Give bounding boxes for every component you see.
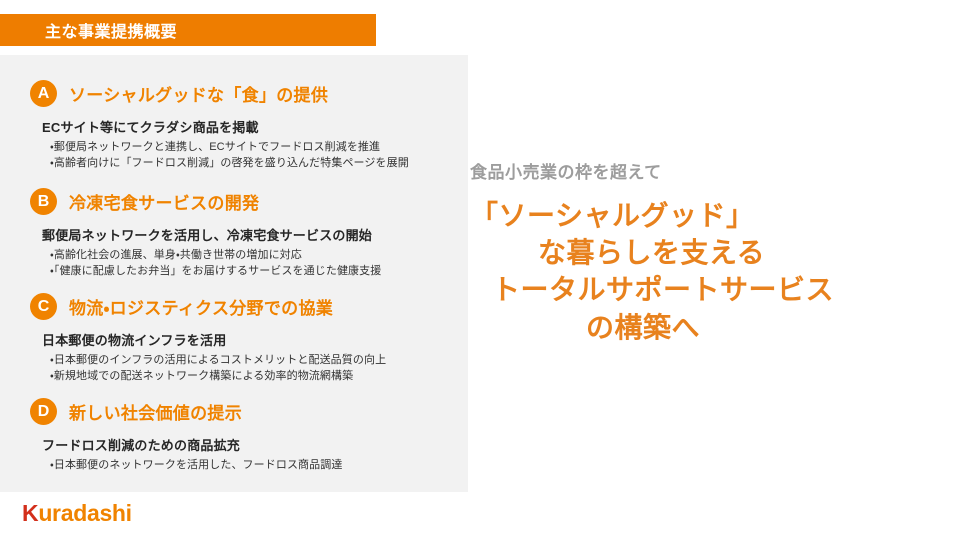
section-a-title: ソーシャルグッドな「食」の提供 — [69, 81, 328, 106]
section-b-title: 冷凍宅食サービスの開発 — [69, 189, 259, 214]
section-d-title: 新しい社会価値の提示 — [69, 399, 242, 424]
section-b: B 冷凍宅食サービスの開発 郵便局ネットワークを活用し、冷凍宅食サービスの開始 … — [0, 188, 468, 280]
section-c-header: C 物流・ロジスティクス分野での協業 — [30, 293, 468, 320]
page-title: 主な事業提携概要 — [45, 18, 177, 42]
list-item: ・郵便局ネットワークと連携し、ECサイトでフードロス削減を推進 — [50, 140, 468, 156]
section-a-bullets: ・郵便局ネットワークと連携し、ECサイトでフードロス削減を推進 ・高齢者向けに「… — [50, 140, 468, 172]
badge-d: D — [30, 398, 57, 425]
section-a-lead: ECサイト等にてクラダシ商品を掲載 — [42, 117, 468, 136]
list-item: ・日本郵便のネットワークを活用した、フードロス商品調達 — [50, 458, 468, 474]
list-item: ・新規地域での配送ネットワーク構築による効率的物流網構築 — [50, 369, 468, 385]
badge-c: C — [30, 293, 57, 320]
headline-line-4: の構築へ — [470, 309, 950, 346]
header-bar: 主な事業提携概要 — [0, 14, 376, 46]
logo-wordmark: uradashi — [38, 502, 131, 525]
section-d: D 新しい社会価値の提示 フードロス削減のための商品拡充 ・日本郵便のネットワー… — [0, 398, 468, 474]
headline-line-1: 「ソーシャルグッド」 — [470, 197, 950, 234]
headline-block: 食品小売業の枠を超えて 「ソーシャルグッド」 な暮らしを支える トータルサポート… — [470, 158, 950, 346]
section-c-bullets: ・日本郵便のインフラの活用によるコストメリットと配送品質の向上 ・新規地域での配… — [50, 353, 468, 385]
section-a: A ソーシャルグッドな「食」の提供 ECサイト等にてクラダシ商品を掲載 ・郵便局… — [0, 80, 468, 172]
section-b-header: B 冷凍宅食サービスの開発 — [30, 188, 468, 215]
logo-initial: K — [22, 502, 38, 525]
section-b-bullets: ・高齢化社会の進展、単身・共働き世帯の増加に対応 ・「健康に配慮したお弁当」をお… — [50, 248, 468, 280]
section-c-lead: 日本郵便の物流インフラを活用 — [42, 330, 468, 349]
list-item: ・「健康に配慮したお弁当」をお届けするサービスを通じた健康支援 — [50, 264, 468, 280]
section-d-header: D 新しい社会価値の提示 — [30, 398, 468, 425]
section-a-header: A ソーシャルグッドな「食」の提供 — [30, 80, 468, 107]
partnership-panel: A ソーシャルグッドな「食」の提供 ECサイト等にてクラダシ商品を掲載 ・郵便局… — [0, 55, 468, 492]
section-c: C 物流・ロジスティクス分野での協業 日本郵便の物流インフラを活用 ・日本郵便の… — [0, 293, 468, 385]
kuradashi-logo: K uradashi — [22, 502, 132, 525]
section-c-title: 物流・ロジスティクス分野での協業 — [69, 294, 333, 319]
slide-root: { "header": { "title": "主な事業提携概要", "bar_… — [0, 0, 960, 540]
badge-a: A — [30, 80, 57, 107]
list-item: ・高齢化社会の進展、単身・共働き世帯の増加に対応 — [50, 248, 468, 264]
headline-kicker: 食品小売業の枠を超えて — [470, 158, 950, 183]
badge-b: B — [30, 188, 57, 215]
section-b-lead: 郵便局ネットワークを活用し、冷凍宅食サービスの開始 — [42, 225, 468, 244]
section-d-bullets: ・日本郵便のネットワークを活用した、フードロス商品調達 — [50, 458, 468, 474]
section-d-lead: フードロス削減のための商品拡充 — [42, 435, 468, 454]
list-item: ・日本郵便のインフラの活用によるコストメリットと配送品質の向上 — [50, 353, 468, 369]
headline-line-3: トータルサポートサービス — [470, 271, 950, 308]
list-item: ・高齢者向けに「フードロス削減」の啓発を盛り込んだ特集ページを展開 — [50, 156, 468, 172]
headline-line-2: な暮らしを支える — [470, 234, 950, 271]
